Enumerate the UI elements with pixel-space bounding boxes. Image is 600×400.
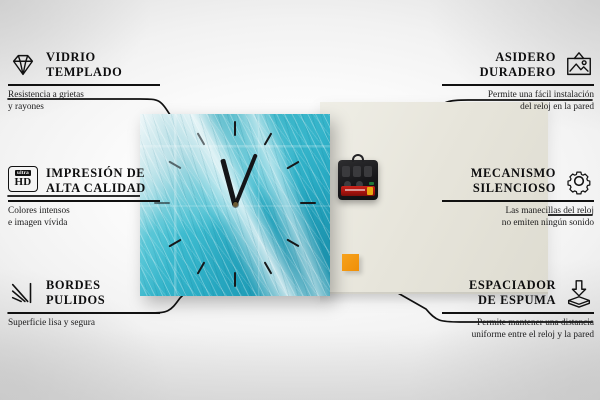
feature-description: Superficie lisa y segura xyxy=(8,317,223,329)
feature-title: MECANISMO SILENCIOSO xyxy=(471,166,556,196)
divider xyxy=(442,312,594,313)
mechanism-hook xyxy=(352,154,364,162)
feature-title: VIDRIO TEMPLADO xyxy=(46,50,122,80)
feature-description: Permite mantener una distancia uniforme … xyxy=(379,317,594,342)
feature-description: Las manecillas del reloj no emiten ningú… xyxy=(379,205,594,230)
feature-title: ESPACIADOR DE ESPUMA xyxy=(469,278,556,308)
feature-title: BORDES PULIDOS xyxy=(46,278,105,308)
divider xyxy=(442,84,594,85)
picture-frame-hanger-icon xyxy=(564,50,594,80)
feature-title: IMPRESIÓN DE ALTA CALIDAD xyxy=(46,166,146,196)
divider xyxy=(8,312,160,313)
ultra-hd-badge-icon: ultra HD xyxy=(8,166,38,196)
foam-spacer xyxy=(342,254,359,271)
tick-12 xyxy=(234,121,236,136)
feature-bordes-pulidos: BORDES PULIDOS Superficie lisa y segura xyxy=(8,278,223,329)
divider xyxy=(8,200,160,201)
divider xyxy=(442,200,594,201)
feature-mecanismo-silencioso: MECANISMO SILENCIOSO Las manecillas del … xyxy=(379,166,594,229)
feature-vidrio-templado: VIDRIO TEMPLADO Resistencia a grietas y … xyxy=(8,50,223,113)
center-pin xyxy=(233,202,238,207)
arrow-down-pad-icon xyxy=(564,278,594,308)
feature-asidero-duradero: ASIDERO DURADERO Permite una fácil insta… xyxy=(379,50,594,113)
clock-mechanism xyxy=(338,160,378,200)
tick-6 xyxy=(234,272,236,287)
mechanism-led xyxy=(369,182,374,185)
feature-description: Resistencia a grietas y rayones xyxy=(8,89,223,114)
feature-title: ASIDERO DURADERO xyxy=(480,50,556,80)
diagonal-lines-icon xyxy=(8,278,38,308)
feature-description: Permite una fácil instalación del reloj … xyxy=(379,89,594,114)
infographic-canvas: VIDRIO TEMPLADO Resistencia a grietas y … xyxy=(0,0,600,400)
divider xyxy=(8,84,160,85)
feature-description: Colores intensos e imagen vívida xyxy=(8,205,223,230)
feature-impresion-alta-calidad: ultra HD IMPRESIÓN DE ALTA CALIDAD Color… xyxy=(8,166,223,229)
gear-icon xyxy=(564,166,594,196)
feature-espaciador-espuma: ESPACIADOR DE ESPUMA Permite mantener un… xyxy=(379,278,594,341)
battery xyxy=(341,186,375,196)
mechanism-slots xyxy=(342,166,374,179)
diamond-icon xyxy=(8,50,38,80)
